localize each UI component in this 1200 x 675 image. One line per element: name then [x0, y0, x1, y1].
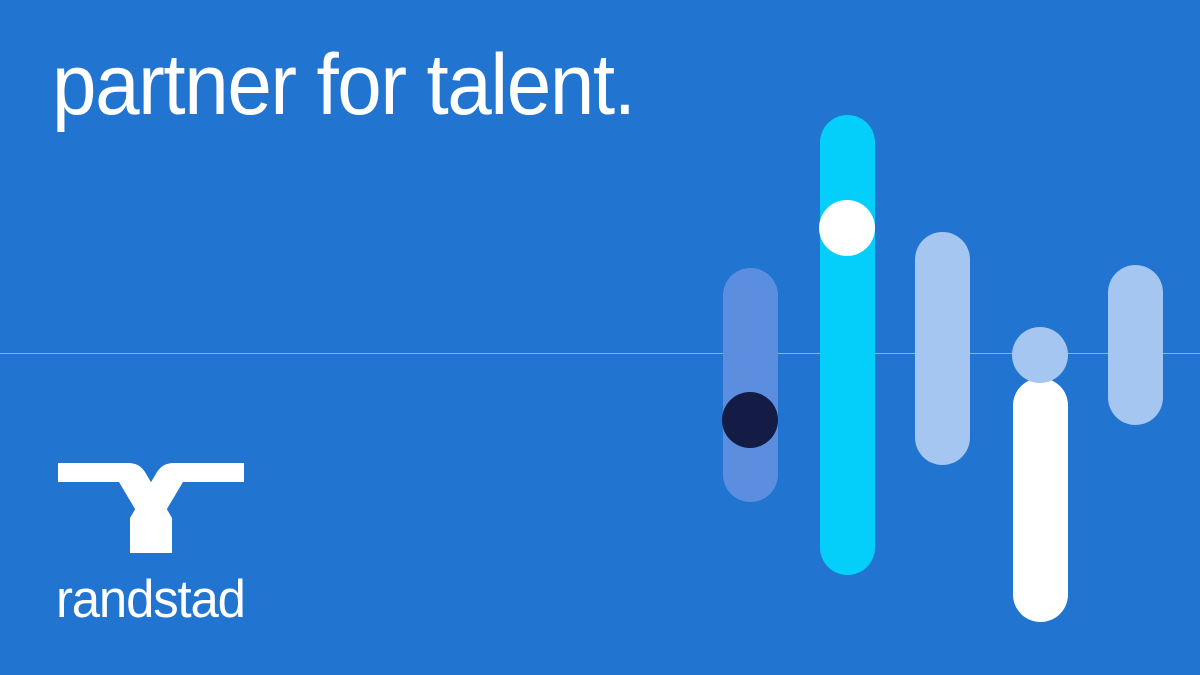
bar-4: [1013, 378, 1068, 622]
randstad-logo-icon: [56, 460, 246, 556]
brand-wordmark: randstad: [56, 573, 245, 626]
marker-navy: [722, 392, 778, 448]
brand-banner: partner for talent. randstad: [0, 0, 1200, 675]
brand-lockup: randstad: [56, 460, 256, 556]
page-title: partner for talent.: [52, 42, 635, 128]
bar-1: [723, 268, 778, 502]
marker-periwinkle: [1012, 327, 1068, 383]
bar-3: [915, 232, 970, 465]
bar-2: [820, 115, 875, 575]
marker-white: [819, 200, 875, 256]
bar-5: [1108, 265, 1163, 425]
